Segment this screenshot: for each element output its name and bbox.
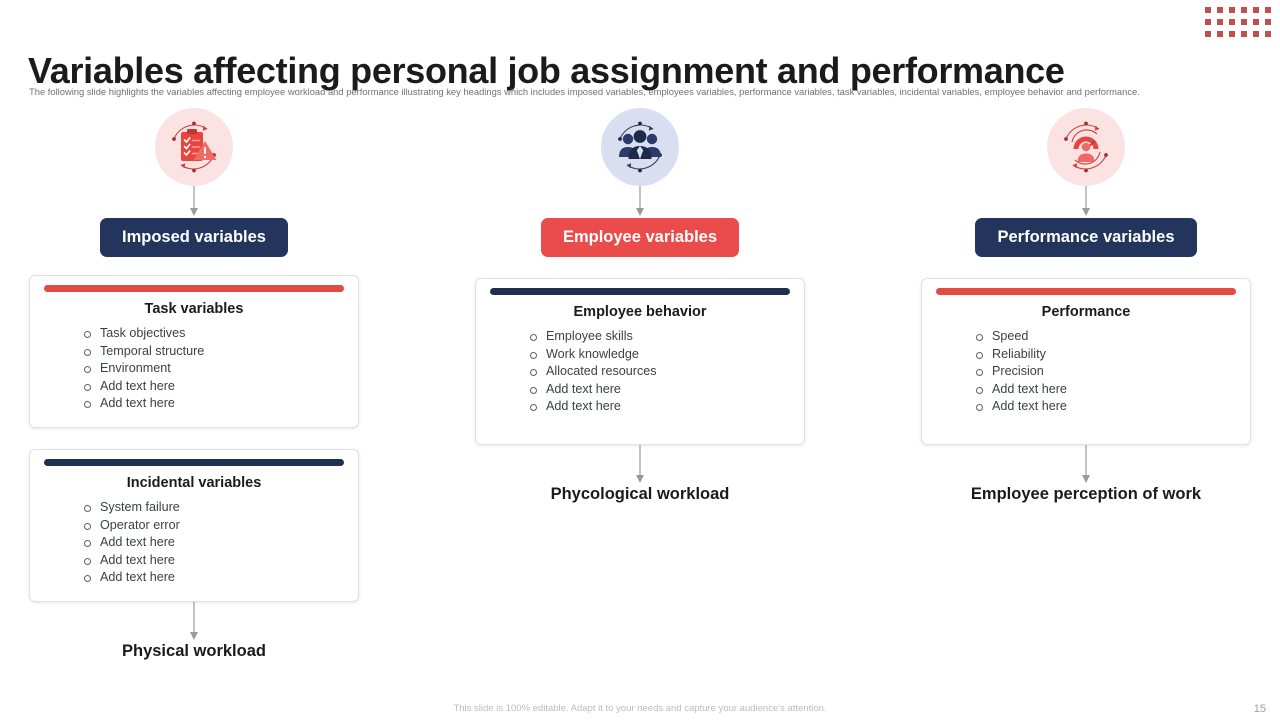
decor-dot <box>1205 7 1211 13</box>
column-performance-variables: Performance variables Performance Speed … <box>921 108 1251 504</box>
decor-dot <box>1241 19 1247 25</box>
footer-note: This slide is 100% editable. Adapt it to… <box>0 703 1280 714</box>
list-item: Task objectives <box>84 325 358 343</box>
connector-arrow <box>475 186 805 218</box>
card-accent-bar <box>490 288 790 295</box>
list-item: Allocated resources <box>530 363 804 381</box>
card-list: System failure Operator error Add text h… <box>30 499 358 587</box>
decor-dot <box>1205 19 1211 25</box>
decor-dot <box>1217 19 1223 25</box>
list-item: Operator error <box>84 517 358 535</box>
page-number: 15 <box>1254 703 1266 715</box>
outcome-label-phycological-workload: Phycological workload <box>475 485 805 504</box>
icon-wrap <box>29 108 359 186</box>
decor-dot <box>1253 31 1259 37</box>
decor-dot <box>1265 19 1271 25</box>
card-accent-bar <box>936 288 1236 295</box>
list-item: Reliability <box>976 346 1250 364</box>
decor-dot <box>1253 19 1259 25</box>
connector-arrow <box>29 186 359 218</box>
icon-wrap <box>475 108 805 186</box>
list-item: Speed <box>976 328 1250 346</box>
column-imposed-variables: Imposed variables Task variables Task ob… <box>29 108 359 661</box>
list-item: Employee skills <box>530 328 804 346</box>
list-item: Temporal structure <box>84 343 358 361</box>
decor-dot <box>1229 19 1235 25</box>
pill-wrap: Employee variables <box>475 218 805 257</box>
card-task-variables: Task variables Task objectives Temporal … <box>29 275 359 428</box>
list-item: Add text here <box>84 395 358 413</box>
heading-pill-performance-variables[interactable]: Performance variables <box>975 218 1196 257</box>
decor-dot <box>1229 7 1235 13</box>
list-item: Add text here <box>530 381 804 399</box>
connector-arrow <box>921 186 1251 218</box>
column-employee-variables: Employee variables Employee behavior Emp… <box>475 108 805 504</box>
decor-dot <box>1229 31 1235 37</box>
decorative-dot-grid <box>1202 4 1274 40</box>
connector-arrow <box>29 602 359 642</box>
list-item: Add text here <box>976 381 1250 399</box>
decor-dot <box>1265 31 1271 37</box>
card-title: Employee behavior <box>476 304 804 320</box>
connector-arrow <box>475 445 805 485</box>
card-performance: Performance Speed Reliability Precision … <box>921 278 1251 445</box>
heading-pill-employee-variables[interactable]: Employee variables <box>541 218 739 257</box>
card-title: Incidental variables <box>30 475 358 491</box>
decor-dot <box>1241 31 1247 37</box>
pill-wrap: Imposed variables <box>29 218 359 257</box>
outcome-label-employee-perception: Employee perception of work <box>921 485 1251 504</box>
decor-dot <box>1241 7 1247 13</box>
card-list: Speed Reliability Precision Add text her… <box>922 328 1250 416</box>
card-accent-bar <box>44 285 344 292</box>
list-item: Add text here <box>530 398 804 416</box>
icon-wrap <box>921 108 1251 186</box>
card-employee-behavior: Employee behavior Employee skills Work k… <box>475 278 805 445</box>
connector-arrow <box>921 445 1251 485</box>
decor-dot <box>1217 7 1223 13</box>
card-list: Employee skills Work knowledge Allocated… <box>476 328 804 416</box>
decor-dot <box>1217 31 1223 37</box>
people-group-icon <box>601 108 679 186</box>
outcome-label-physical-workload: Physical workload <box>29 642 359 661</box>
card-accent-bar <box>44 459 344 466</box>
pill-wrap: Performance variables <box>921 218 1251 257</box>
card-list: Task objectives Temporal structure Envir… <box>30 325 358 413</box>
page-subtitle: The following slide highlights the varia… <box>29 85 1255 98</box>
card-title: Performance <box>922 304 1250 320</box>
decor-dot <box>1265 7 1271 13</box>
list-item: System failure <box>84 499 358 517</box>
card-title: Task variables <box>30 301 358 317</box>
list-item: Add text here <box>84 534 358 552</box>
list-item: Add text here <box>976 398 1250 416</box>
decor-dot <box>1205 31 1211 37</box>
decor-dot <box>1253 7 1259 13</box>
card-incidental-variables: Incidental variables System failure Oper… <box>29 449 359 602</box>
list-item: Add text here <box>84 569 358 587</box>
list-item: Environment <box>84 360 358 378</box>
list-item: Add text here <box>84 552 358 570</box>
performance-gauge-icon <box>1047 108 1125 186</box>
clipboard-warning-icon <box>155 108 233 186</box>
heading-pill-imposed-variables[interactable]: Imposed variables <box>100 218 288 257</box>
list-item: Work knowledge <box>530 346 804 364</box>
list-item: Add text here <box>84 378 358 396</box>
list-item: Precision <box>976 363 1250 381</box>
